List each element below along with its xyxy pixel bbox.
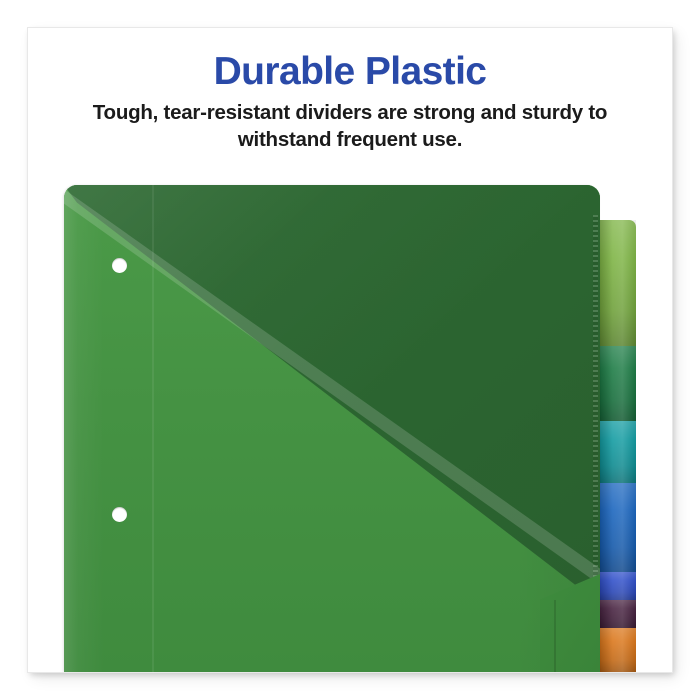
tab-teal bbox=[600, 421, 636, 483]
binder-hole-bottom bbox=[112, 507, 127, 522]
tab-blue-shading bbox=[600, 483, 636, 572]
tab-teal-shading bbox=[600, 421, 636, 483]
binder-hole-top bbox=[112, 258, 127, 273]
tab-dark-green-sheen bbox=[600, 346, 636, 421]
sheet-gloss-seam bbox=[152, 185, 154, 672]
tab-light-green-sheen bbox=[600, 220, 636, 346]
tab-blue bbox=[600, 483, 636, 572]
tab-orange-sheen bbox=[600, 628, 636, 672]
plastic-divider-sheet bbox=[64, 185, 600, 672]
tab-orange-shading bbox=[600, 628, 636, 672]
tab-purple bbox=[600, 600, 636, 628]
tab-purple-shading bbox=[600, 600, 636, 628]
index-tab-stack bbox=[600, 220, 636, 672]
product-photo bbox=[28, 28, 672, 672]
tab-royal-blue-shading bbox=[600, 572, 636, 600]
tab-teal-sheen bbox=[600, 421, 636, 483]
tab-royal-blue bbox=[600, 572, 636, 600]
product-card: Durable Plastic Tough, tear-resistant di… bbox=[28, 28, 672, 672]
tab-dark-green-shading bbox=[600, 346, 636, 421]
product-image-canvas: Durable Plastic Tough, tear-resistant di… bbox=[0, 0, 700, 700]
tab-orange bbox=[600, 628, 636, 672]
perforation-strip bbox=[593, 215, 598, 607]
tab-purple-sheen bbox=[600, 600, 636, 628]
bottom-corner-fold-edge bbox=[554, 600, 556, 672]
tab-dark-green bbox=[600, 346, 636, 421]
tab-light-green bbox=[600, 220, 636, 346]
tab-light-green-shading bbox=[600, 220, 636, 346]
tab-royal-blue-sheen bbox=[600, 572, 636, 600]
tab-blue-sheen bbox=[600, 483, 636, 572]
